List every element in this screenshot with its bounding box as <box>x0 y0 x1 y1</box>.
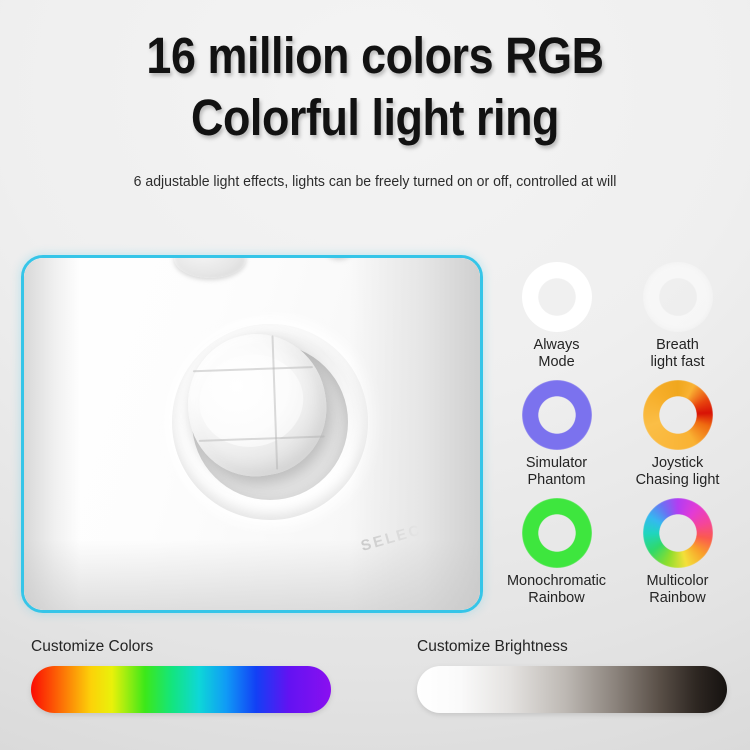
ring-icon-breath-light-fast <box>643 262 713 332</box>
color-hue-slider[interactable] <box>31 666 331 713</box>
effect-label-multicolor-line2: Rainbow <box>649 590 705 607</box>
photo-shade-bottom <box>24 540 480 610</box>
headline-line-1: 16 million colors RGB <box>45 26 705 86</box>
product-photo-image: SELECT <box>24 258 480 610</box>
effect-label-simulator-line1: Simulator <box>526 455 587 472</box>
effect-item-monochromatic-rainbow[interactable]: Monochromatic Rainbow <box>498 498 615 606</box>
customize-brightness-label: Customize Brightness <box>417 638 727 656</box>
rgb-light-ring-promo-page: { "header": { "headline_line1": "16 mill… <box>0 0 750 750</box>
light-effects-grid: Always Mode Breath light fast Simulator … <box>498 262 736 606</box>
effect-label-joystick-line2: Chasing light <box>636 472 720 489</box>
effect-label-multicolor-line1: Multicolor <box>646 573 708 590</box>
effect-label-always-mode-line2: Mode <box>538 354 574 371</box>
customize-colors-label: Customize Colors <box>31 638 331 656</box>
effect-label-monochromatic-line1: Monochromatic <box>507 573 606 590</box>
effect-item-joystick-chasing-light[interactable]: Joystick Chasing light <box>619 380 736 488</box>
effect-label-monochromatic-line2: Rainbow <box>528 590 584 607</box>
ring-icon-monochromatic-rainbow <box>522 498 592 568</box>
page-header: 16 million colors RGB Colorful light rin… <box>0 0 750 190</box>
ring-icon-multicolor-rainbow <box>643 498 713 568</box>
customize-colors-group: Customize Colors <box>31 638 331 713</box>
effect-label-breath-line2: light fast <box>651 354 705 371</box>
effect-item-breath-light-fast[interactable]: Breath light fast <box>619 262 736 370</box>
brightness-slider[interactable] <box>417 666 727 713</box>
effect-label-simulator-line2: Phantom <box>527 472 585 489</box>
effect-item-always-mode[interactable]: Always Mode <box>498 262 615 370</box>
product-photo-panel: SELECT <box>21 255 483 613</box>
effect-item-multicolor-rainbow[interactable]: Multicolor Rainbow <box>619 498 736 606</box>
effect-label-breath-line1: Breath <box>656 337 699 354</box>
effect-label-joystick-line1: Joystick <box>652 455 704 472</box>
customize-brightness-group: Customize Brightness <box>417 638 727 713</box>
effect-item-simulator-phantom[interactable]: Simulator Phantom <box>498 380 615 488</box>
headline-line-2: Colorful light ring <box>45 88 705 148</box>
ring-icon-simulator-phantom <box>522 380 592 450</box>
page-subtitle: 6 adjustable light effects, lights can b… <box>11 174 739 190</box>
effect-label-always-mode-line1: Always <box>534 337 580 354</box>
thumbstick-assembly <box>172 324 368 520</box>
ring-icon-joystick-chasing-light <box>643 380 713 450</box>
ring-icon-always-mode <box>522 262 592 332</box>
